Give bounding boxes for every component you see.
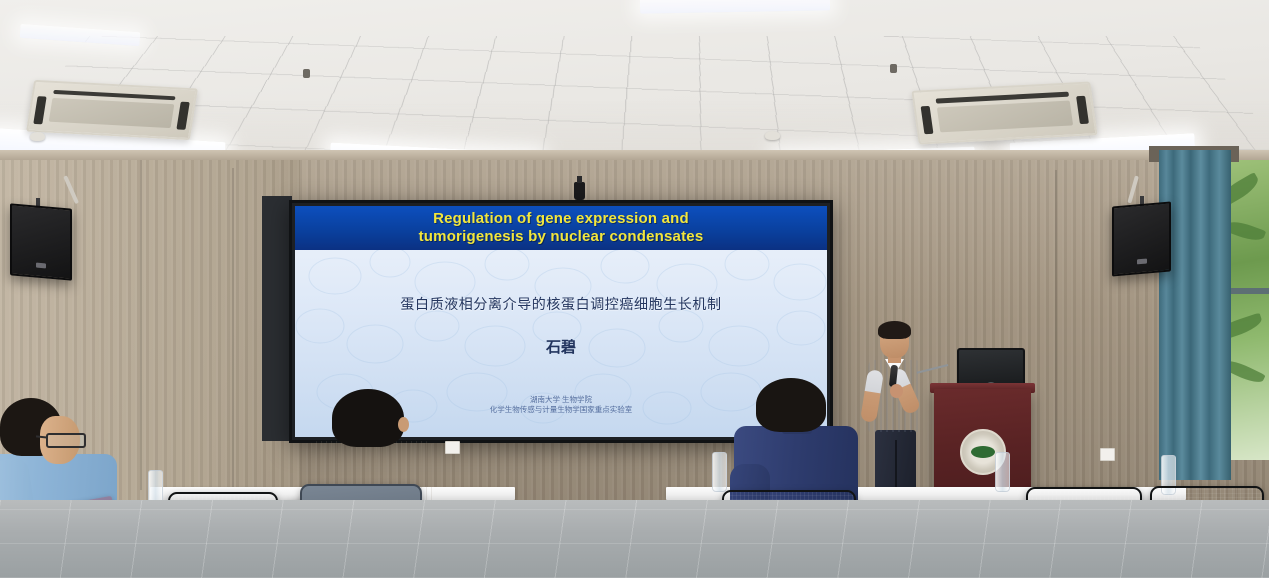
affiliation-line-1: 湖南大学 生物学院 [490, 395, 633, 405]
water-bottle[interactable] [995, 452, 1010, 492]
wall-speaker-left [10, 203, 72, 280]
ceiling-ac-vent [911, 81, 1097, 144]
ceiling-sprinkler [303, 69, 310, 78]
slide-title-line-2: tumorigenesis by nuclear condensates [419, 228, 704, 246]
floor-tile-pattern [0, 500, 1269, 578]
ceiling-sprinkler [890, 64, 897, 73]
screen-recess-panel [262, 196, 292, 441]
audience-hair [756, 378, 826, 432]
audience-ear [398, 417, 409, 432]
audience-hair [332, 389, 404, 447]
floor [0, 500, 1269, 578]
smoke-detector [765, 131, 780, 140]
ceiling-ac-vent [26, 80, 198, 140]
slide-affiliation: 湖南大学 生物学院 化学生物传感与计量生物学国家重点实验室 [490, 395, 633, 415]
wall-seam [232, 168, 234, 490]
glasses-icon [46, 433, 86, 448]
presenter-hand [890, 384, 903, 398]
wall-seam [140, 160, 142, 490]
wall-speaker-right [1112, 201, 1171, 276]
slide-title-line-1: Regulation of gene expression and [433, 210, 689, 228]
wall-trim [0, 150, 1269, 160]
presentation-room-photo: Regulation of gene expression and tumori… [0, 0, 1269, 578]
slide-speaker-name: 石碧 [546, 336, 576, 357]
smoke-detector [30, 132, 45, 141]
presenter-hair [878, 321, 911, 339]
slide-title: Regulation of gene expression and tumori… [295, 206, 827, 250]
slide-subtitle-cn: 蛋白质液相分离介导的核蛋白调控癌细胞生长机制 [400, 294, 721, 314]
wall-seam [1055, 170, 1057, 470]
ceiling-camera-icon [574, 182, 585, 200]
affiliation-line-2: 化学生物传感与计量生物学国家重点实验室 [490, 405, 633, 415]
water-bottle[interactable] [712, 452, 727, 492]
window-curtain[interactable] [1159, 150, 1231, 480]
power-outlet[interactable] [1100, 448, 1115, 461]
